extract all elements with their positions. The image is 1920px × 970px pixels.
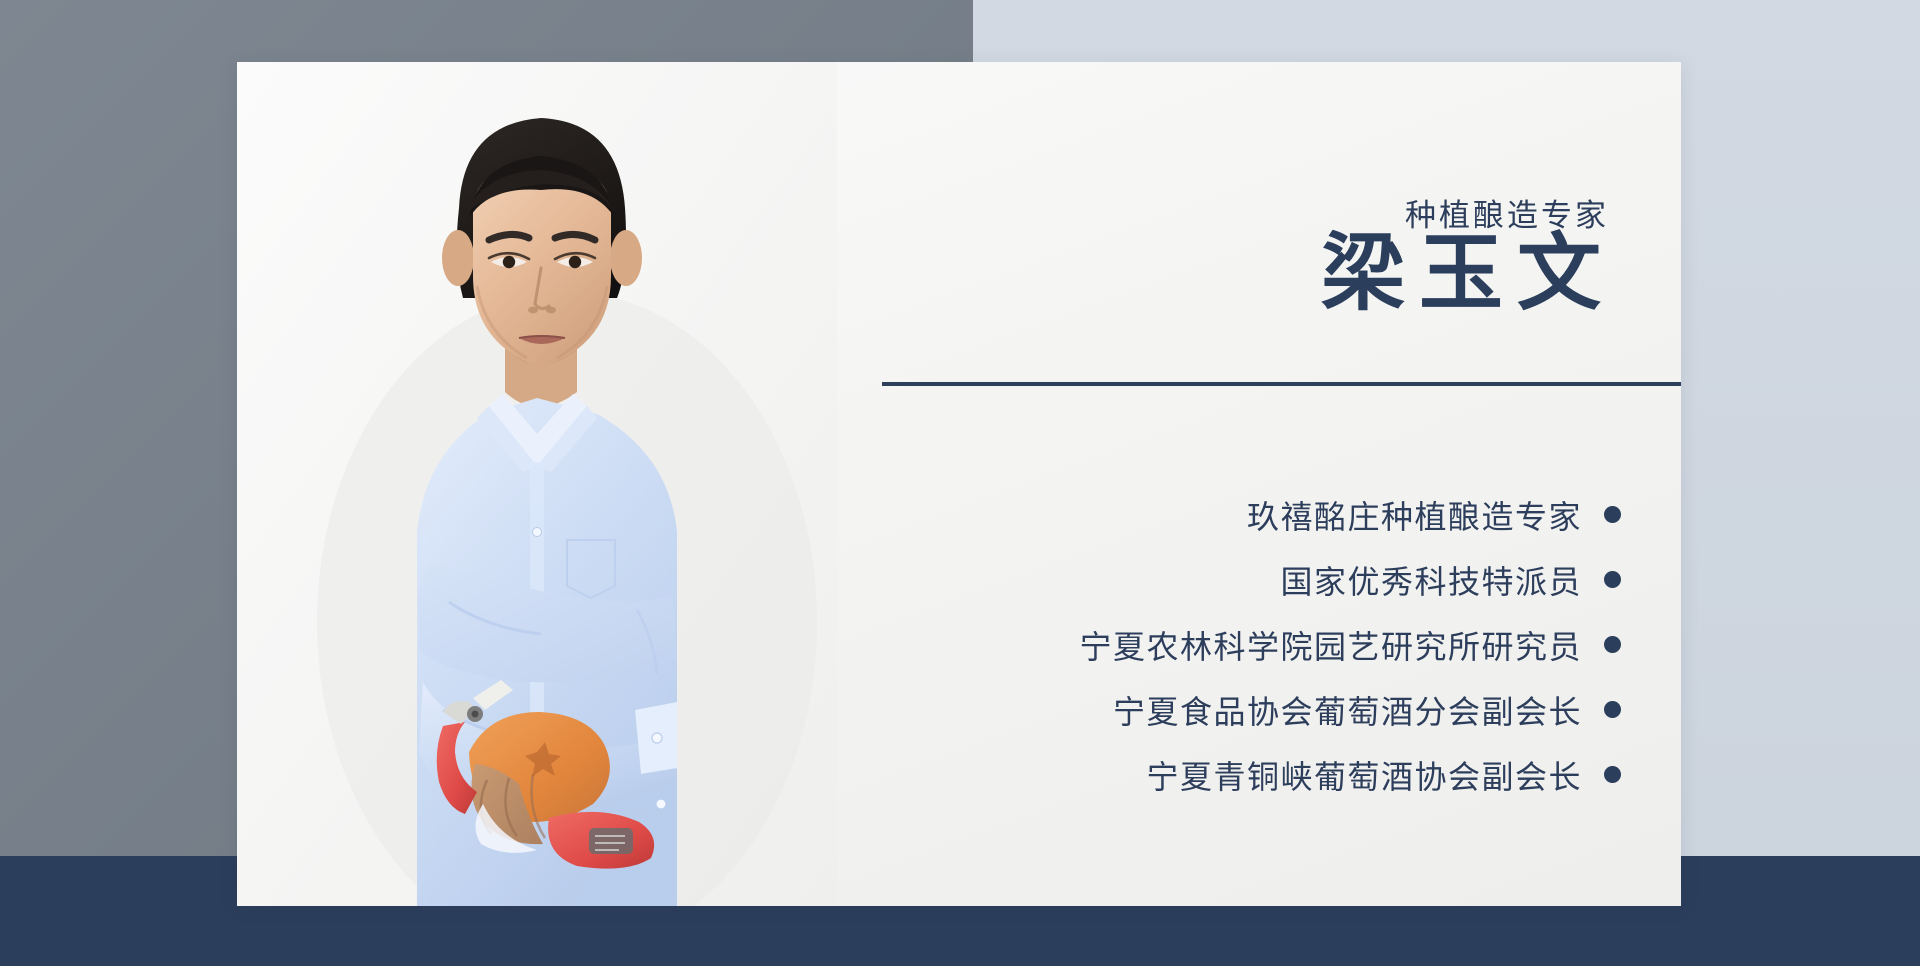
list-item: 宁夏食品协会葡萄酒分会副会长 <box>861 677 1621 742</box>
profile-card: 种植酿造专家 梁玉文 玖禧酩庄种植酿造专家 国家优秀科技特派员 宁夏农林科学院园… <box>237 62 1681 906</box>
credential-label: 国家优秀科技特派员 <box>1280 557 1582 603</box>
bullet-dot-icon <box>1604 636 1621 653</box>
list-item: 宁夏农林科学院园艺研究所研究员 <box>861 612 1621 677</box>
profile-content: 种植酿造专家 梁玉文 玖禧酩庄种植酿造专家 国家优秀科技特派员 宁夏农林科学院园… <box>837 62 1681 906</box>
credential-label: 宁夏青铜峡葡萄酒协会副会长 <box>1146 752 1582 798</box>
credential-label: 宁夏食品协会葡萄酒分会副会长 <box>1113 687 1582 733</box>
credential-label: 玖禧酩庄种植酿造专家 <box>1247 492 1582 538</box>
credential-list: 玖禧酩庄种植酿造专家 国家优秀科技特派员 宁夏农林科学院园艺研究所研究员 宁夏食… <box>861 482 1621 807</box>
list-item: 宁夏青铜峡葡萄酒协会副会长 <box>861 742 1621 807</box>
credential-label: 宁夏农林科学院园艺研究所研究员 <box>1079 622 1582 668</box>
bullet-dot-icon <box>1604 701 1621 718</box>
section-divider <box>882 382 1681 386</box>
bullet-dot-icon <box>1604 766 1621 783</box>
portrait-illustration <box>237 62 837 906</box>
background-bottom-strip <box>0 966 1920 970</box>
bullet-dot-icon <box>1604 506 1621 523</box>
banner-stage: 种植酿造专家 梁玉文 玖禧酩庄种植酿造专家 国家优秀科技特派员 宁夏农林科学院园… <box>0 0 1920 970</box>
portrait-photo <box>237 62 837 906</box>
list-item: 国家优秀科技特派员 <box>861 547 1621 612</box>
profile-name: 梁玉文 <box>1307 230 1615 321</box>
bullet-dot-icon <box>1604 571 1621 588</box>
list-item: 玖禧酩庄种植酿造专家 <box>861 482 1621 547</box>
